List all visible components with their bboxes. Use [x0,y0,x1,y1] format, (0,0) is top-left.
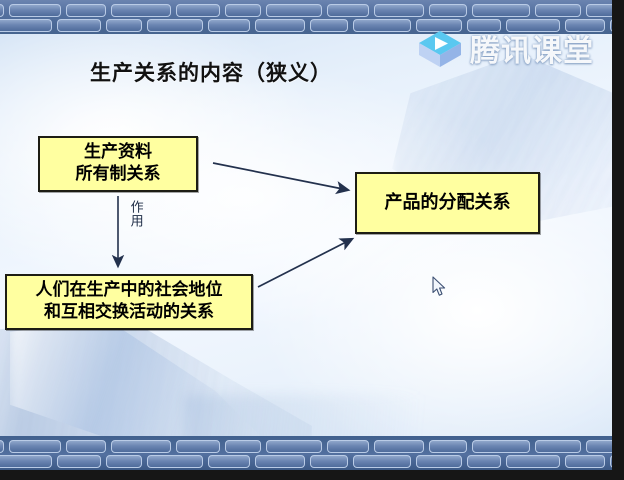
brick [0,455,52,468]
brick-row-lower [0,455,612,468]
slide-canvas: 生产关系的内容（狭义） 腾讯课堂 作用 生产资料 所有制关系 人们在生产中的社会… [0,0,612,470]
logo-wordmark: 腾讯课堂 [470,26,594,70]
brick [429,4,467,17]
box-line: 产品的分配关系 [385,191,511,214]
brick [147,19,203,32]
brick [266,4,322,17]
brick [225,4,261,17]
letterbox-right [612,0,624,480]
brick [106,19,142,32]
brick-row-upper [0,4,612,17]
brick [374,440,424,453]
brick [472,440,530,453]
brick [506,455,560,468]
brick [208,19,250,32]
graduation-cap-play-icon [418,30,462,70]
brick [111,440,171,453]
brick [374,4,424,17]
box-line: 人们在生产中的社会地位 [36,280,223,302]
brick [266,440,322,453]
brick [472,4,530,17]
brick [147,455,203,468]
brick [535,4,581,17]
brick [225,440,261,453]
brick [586,4,612,17]
brick [327,4,369,17]
brick [327,440,369,453]
brick [176,440,220,453]
concept-box-means-of-production[interactable]: 生产资料 所有制关系 [38,136,198,192]
brick [255,19,305,32]
brick [310,455,348,468]
brick [111,4,171,17]
brick [535,440,581,453]
brick [208,455,250,468]
brick [176,4,220,17]
box-line: 所有制关系 [76,164,161,186]
arrow-label-effect: 作用 [128,200,142,228]
brick [106,455,142,468]
brick [57,455,101,468]
brick [57,19,101,32]
brick [429,440,467,453]
brick [416,455,462,468]
brick [0,4,4,17]
brick [353,455,411,468]
concept-box-product-distribution[interactable]: 产品的分配关系 [355,172,540,234]
brick [353,19,411,32]
brick [9,440,61,453]
brick [66,4,106,17]
brick [66,440,106,453]
brick [255,455,305,468]
brick [310,19,348,32]
page-title: 生产关系的内容（狭义） [90,57,332,87]
concept-box-social-status[interactable]: 人们在生产中的社会地位 和互相交换活动的关系 [5,274,253,330]
brick [9,4,61,17]
brick [0,440,4,453]
brick [467,455,501,468]
letterbox-bottom [0,470,624,480]
mouse-cursor-icon [432,276,448,298]
brick [0,19,52,32]
box-line: 和互相交换活动的关系 [44,302,214,324]
brick [565,455,605,468]
brick [586,440,612,453]
bottom-brick-border [0,436,612,470]
brick-row-upper [0,440,612,453]
box-line: 生产资料 [84,142,152,164]
tencent-classroom-logo: 腾讯课堂 [418,28,608,72]
